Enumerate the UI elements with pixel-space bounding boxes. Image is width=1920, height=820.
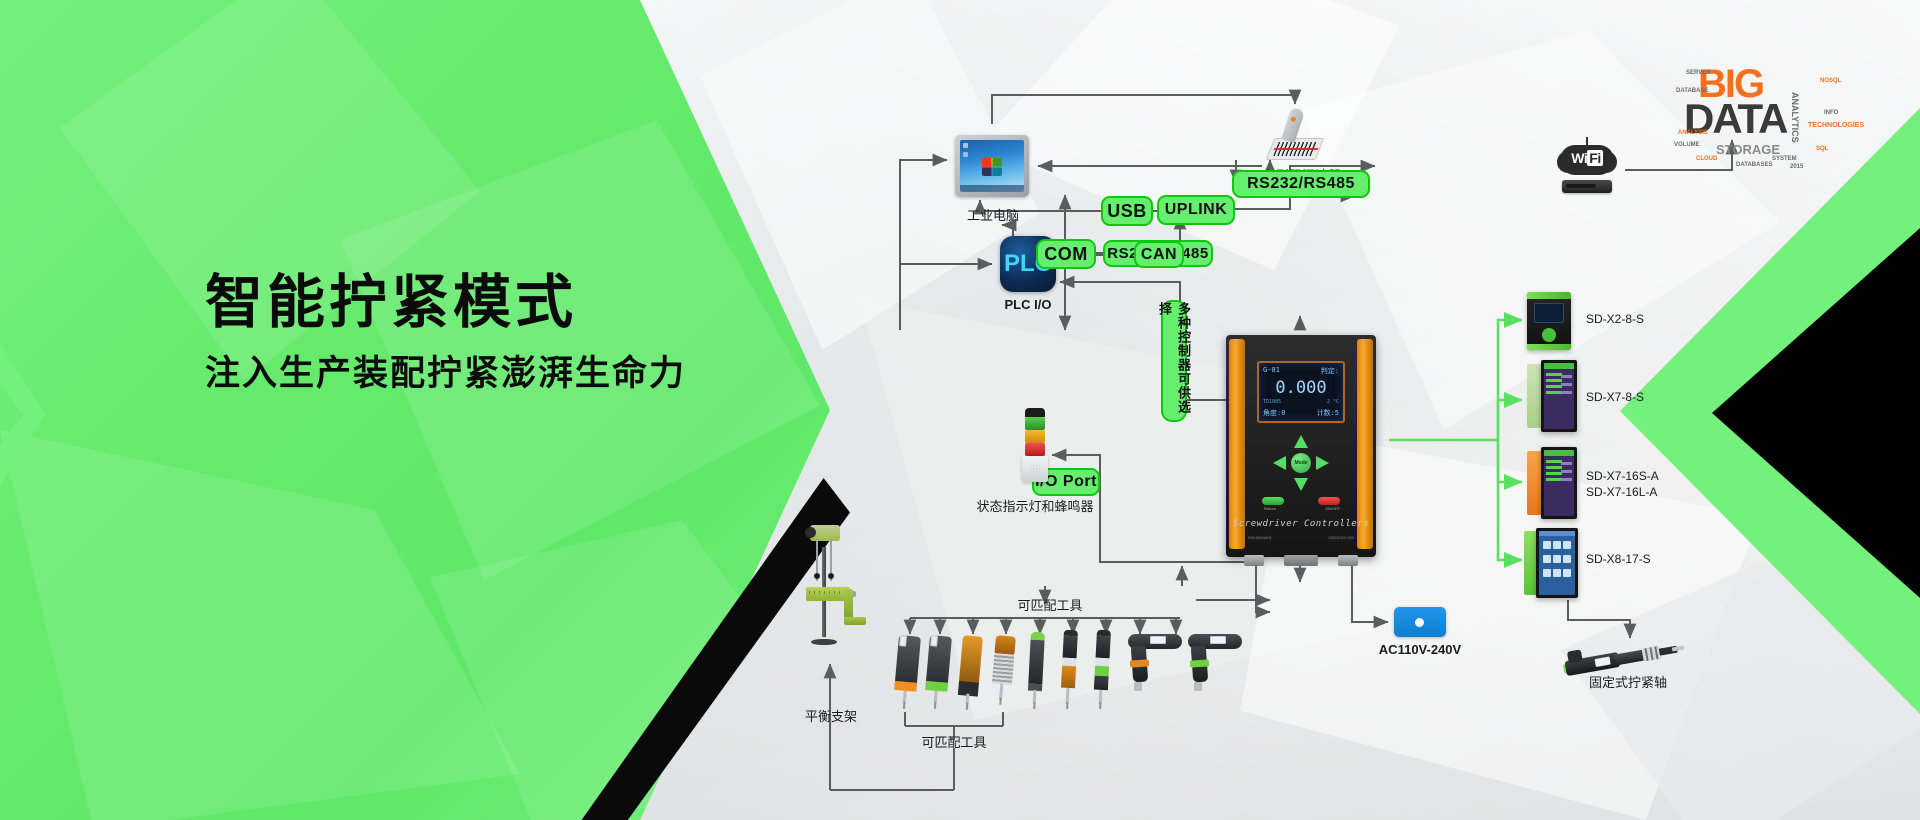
controller-model-label-2a: SD-X7-16S-A xyxy=(1586,468,1659,484)
controller-model-label-3: SD-X8-17-S xyxy=(1586,552,1651,566)
return-button[interactable] xyxy=(1262,497,1284,505)
dpad-left-icon[interactable] xyxy=(1273,456,1286,470)
dpad-right-icon[interactable] xyxy=(1316,456,1329,470)
power-button-label: ON/OFF xyxy=(1325,506,1340,511)
power-label: AC110V-240V xyxy=(1370,642,1470,657)
tools-bottom-label: 可匹配工具 xyxy=(904,732,1004,751)
tools-top-label: 可匹配工具 xyxy=(1000,595,1100,614)
controller-unit-sd-x8-17-s xyxy=(1524,528,1578,598)
tool-screwdriver-2 xyxy=(924,635,952,709)
controller-model-label-2b: SD-X7-16L-A xyxy=(1586,484,1657,500)
controller-unit-sd-x7-8-s xyxy=(1527,360,1577,432)
dpad-mode-button[interactable]: Mode xyxy=(1291,453,1311,473)
controller-port-right xyxy=(1338,555,1358,566)
controller-choice-chip[interactable]: 多种控制器可供选择 xyxy=(1161,300,1187,422)
status-light-label: 状态指示灯和蜂鸣器 xyxy=(955,496,1115,515)
industrial-pc-monitor-icon xyxy=(955,135,1029,197)
big-data-word-cloud-icon: BIG DATA STORAGE ANALYTICS TECHNOLOGIES … xyxy=(1672,58,1848,178)
controller-dpad[interactable]: Mode xyxy=(1273,435,1329,491)
tool-screwdriver-7 xyxy=(1093,630,1111,711)
power-button[interactable] xyxy=(1318,497,1340,505)
chip-com[interactable]: COM xyxy=(1036,239,1096,269)
lcd-group: G-01 xyxy=(1263,366,1280,376)
return-button-label: Return xyxy=(1264,506,1276,511)
controller-port-center xyxy=(1284,555,1318,566)
controller-sn-left: S/N:000A001 xyxy=(1248,535,1272,540)
fixed-spindle-label: 固定式拧紧轴 xyxy=(1548,672,1708,691)
balance-arm-label: 平衡支架 xyxy=(781,706,881,725)
controller-brand-text: Screwdriver Controllers xyxy=(1226,519,1376,529)
controller-lcd-screen: G-01 判定: 0.000 TD1005 2 °C 角度:0 计数:5 xyxy=(1257,361,1345,423)
bigdata-storage-text: STORAGE xyxy=(1716,142,1780,157)
dpad-down-icon[interactable] xyxy=(1294,478,1308,491)
tool-screwdriver-4 xyxy=(990,635,1016,708)
chip-rs232-top[interactable]: RS232/RS485 xyxy=(1232,170,1370,198)
banner-stage: 智能拧紧模式 注入生产装配拧紧澎湃生命力 xyxy=(0,0,1920,820)
controller-sn-right: 20201012.002 xyxy=(1328,535,1354,540)
tool-screwdriver-1 xyxy=(893,635,921,709)
industrial-pc-label: 工业电脑 xyxy=(938,205,1048,224)
page-title: 智能拧紧模式 xyxy=(205,272,686,335)
system-topology-diagram: 工业电脑 条形码阅读器 PLC PLC I/O WiFi BIG DATA ST… xyxy=(0,0,1920,820)
lcd-temp: 2 °C xyxy=(1327,399,1339,405)
tool-screwdriver-6 xyxy=(1060,630,1078,711)
controller-port-left xyxy=(1244,555,1264,566)
page-subtitle: 注入生产装配拧紧澎湃生命力 xyxy=(205,345,686,396)
bigdata-technologies-text: TECHNOLOGIES xyxy=(1808,122,1864,129)
main-screwdriver-controller: G-01 判定: 0.000 TD1005 2 °C 角度:0 计数:5 Mo xyxy=(1226,335,1376,557)
controller-unit-sd-x2-8-s xyxy=(1527,292,1571,350)
tool-screwdriver-5 xyxy=(1027,632,1045,711)
controller-model-label-1: SD-X7-8-S xyxy=(1586,390,1644,404)
power-adapter-icon xyxy=(1394,607,1446,637)
bigdata-analytics-text: ANALYTICS xyxy=(1790,92,1800,143)
controller-unit-sd-x7-16 xyxy=(1527,447,1577,519)
lcd-angle: 角度:0 xyxy=(1263,408,1285,418)
dpad-up-icon[interactable] xyxy=(1294,435,1308,448)
lcd-value: 0.000 xyxy=(1259,378,1343,398)
tower-light-icon xyxy=(1022,408,1048,488)
tool-screwdriver-3 xyxy=(957,635,983,708)
lcd-count: 计数:5 xyxy=(1317,408,1339,418)
headline-block: 智能拧紧模式 注入生产装配拧紧澎湃生命力 xyxy=(205,272,686,396)
plc-io-label: PLC I/O xyxy=(975,297,1081,312)
lcd-verdict-label: 判定: xyxy=(1321,366,1339,376)
chip-uplink[interactable]: UPLINK xyxy=(1157,195,1235,225)
controller-model-label-0: SD-X2-8-S xyxy=(1586,312,1644,326)
chip-usb[interactable]: USB xyxy=(1101,196,1153,226)
barcode-scanner-icon xyxy=(1270,108,1328,160)
lcd-model: TD1005 xyxy=(1263,399,1281,405)
chip-can[interactable]: CAN xyxy=(1134,241,1184,268)
balance-arm-icon xyxy=(792,525,870,645)
wifi-router-icon: WiFi xyxy=(1556,145,1618,193)
